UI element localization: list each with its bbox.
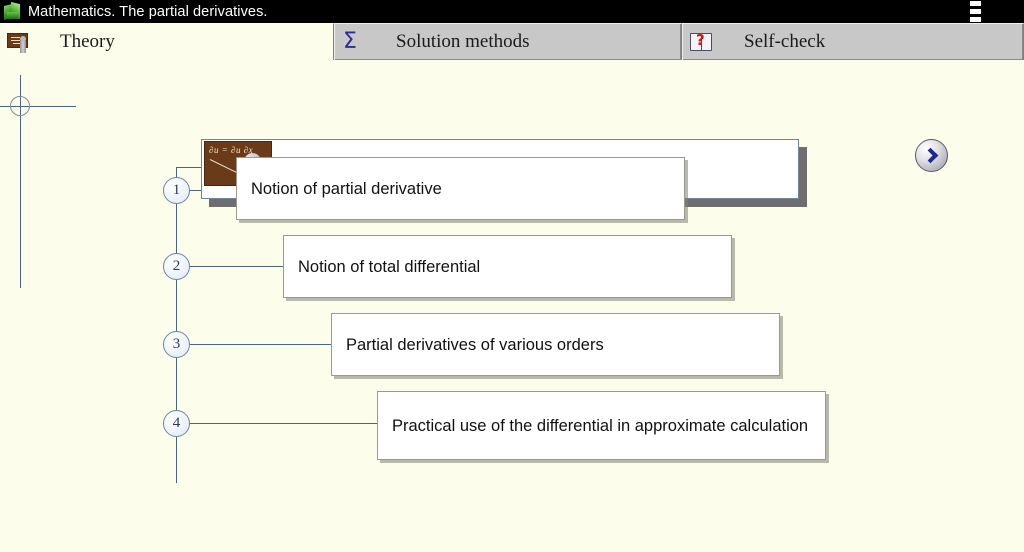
book-question-icon: ?: [690, 32, 712, 53]
list-item-1[interactable]: Notion of partial derivative: [236, 157, 685, 220]
window-title: Mathematics. The partial derivatives.: [28, 4, 268, 20]
branch-line-4: [190, 423, 378, 424]
list-item-2-label: Notion of total differential: [284, 255, 490, 279]
branch-line-3: [190, 344, 332, 345]
tab-solution-methods-label: Solution methods: [396, 31, 530, 53]
window-control-dot-1[interactable]: [970, 1, 981, 6]
list-item-4-label: Practical use of the differential in app…: [378, 414, 818, 438]
list-item-3-label: Partial derivatives of various orders: [332, 333, 614, 357]
tab-bar: Theory Σ Solution methods ? Self-check: [0, 23, 1024, 60]
list-item-3[interactable]: Partial derivatives of various orders: [331, 313, 780, 376]
window-control-dot-2[interactable]: [970, 9, 981, 14]
window-controls[interactable]: [969, 1, 982, 22]
tab-theory-label: Theory: [60, 31, 115, 53]
branch-line-2: [190, 266, 285, 267]
tab-self-check[interactable]: ? Self-check: [682, 23, 1024, 60]
node-3-label: 3: [173, 336, 181, 353]
decorative-crosshair: [0, 75, 80, 290]
tab-theory[interactable]: Theory: [0, 23, 334, 60]
list-item-2[interactable]: Notion of total differential: [283, 235, 732, 298]
sigma-icon: Σ: [342, 32, 364, 53]
node-number-1[interactable]: 1: [163, 177, 190, 204]
next-button[interactable]: [915, 139, 948, 172]
list-item-4[interactable]: Practical use of the differential in app…: [377, 391, 826, 460]
node-2-label: 2: [173, 258, 181, 275]
node-1-label: 1: [173, 182, 181, 199]
node-number-2[interactable]: 2: [163, 253, 190, 280]
window-control-dot-3[interactable]: [970, 17, 981, 22]
tab-self-check-label: Self-check: [744, 31, 825, 53]
window-titlebar: Mathematics. The partial derivatives.: [0, 0, 1024, 23]
tree-connector-top: [176, 167, 201, 168]
node-number-4[interactable]: 4: [163, 410, 190, 437]
chevron-right-icon: [922, 148, 938, 164]
green-cube-icon: [4, 3, 21, 20]
node-4-label: 4: [173, 415, 181, 432]
list-item-1-label: Notion of partial derivative: [237, 177, 452, 201]
node-number-3[interactable]: 3: [163, 331, 190, 358]
content-area: ∂u = ∂u ∂x Theory 1 2 3 4 Notion of part…: [0, 60, 1024, 552]
chalkboard-formula: ∂u = ∂u ∂x: [209, 145, 253, 155]
tab-solution-methods[interactable]: Σ Solution methods: [334, 23, 682, 60]
chalkboard-icon: [7, 32, 29, 53]
